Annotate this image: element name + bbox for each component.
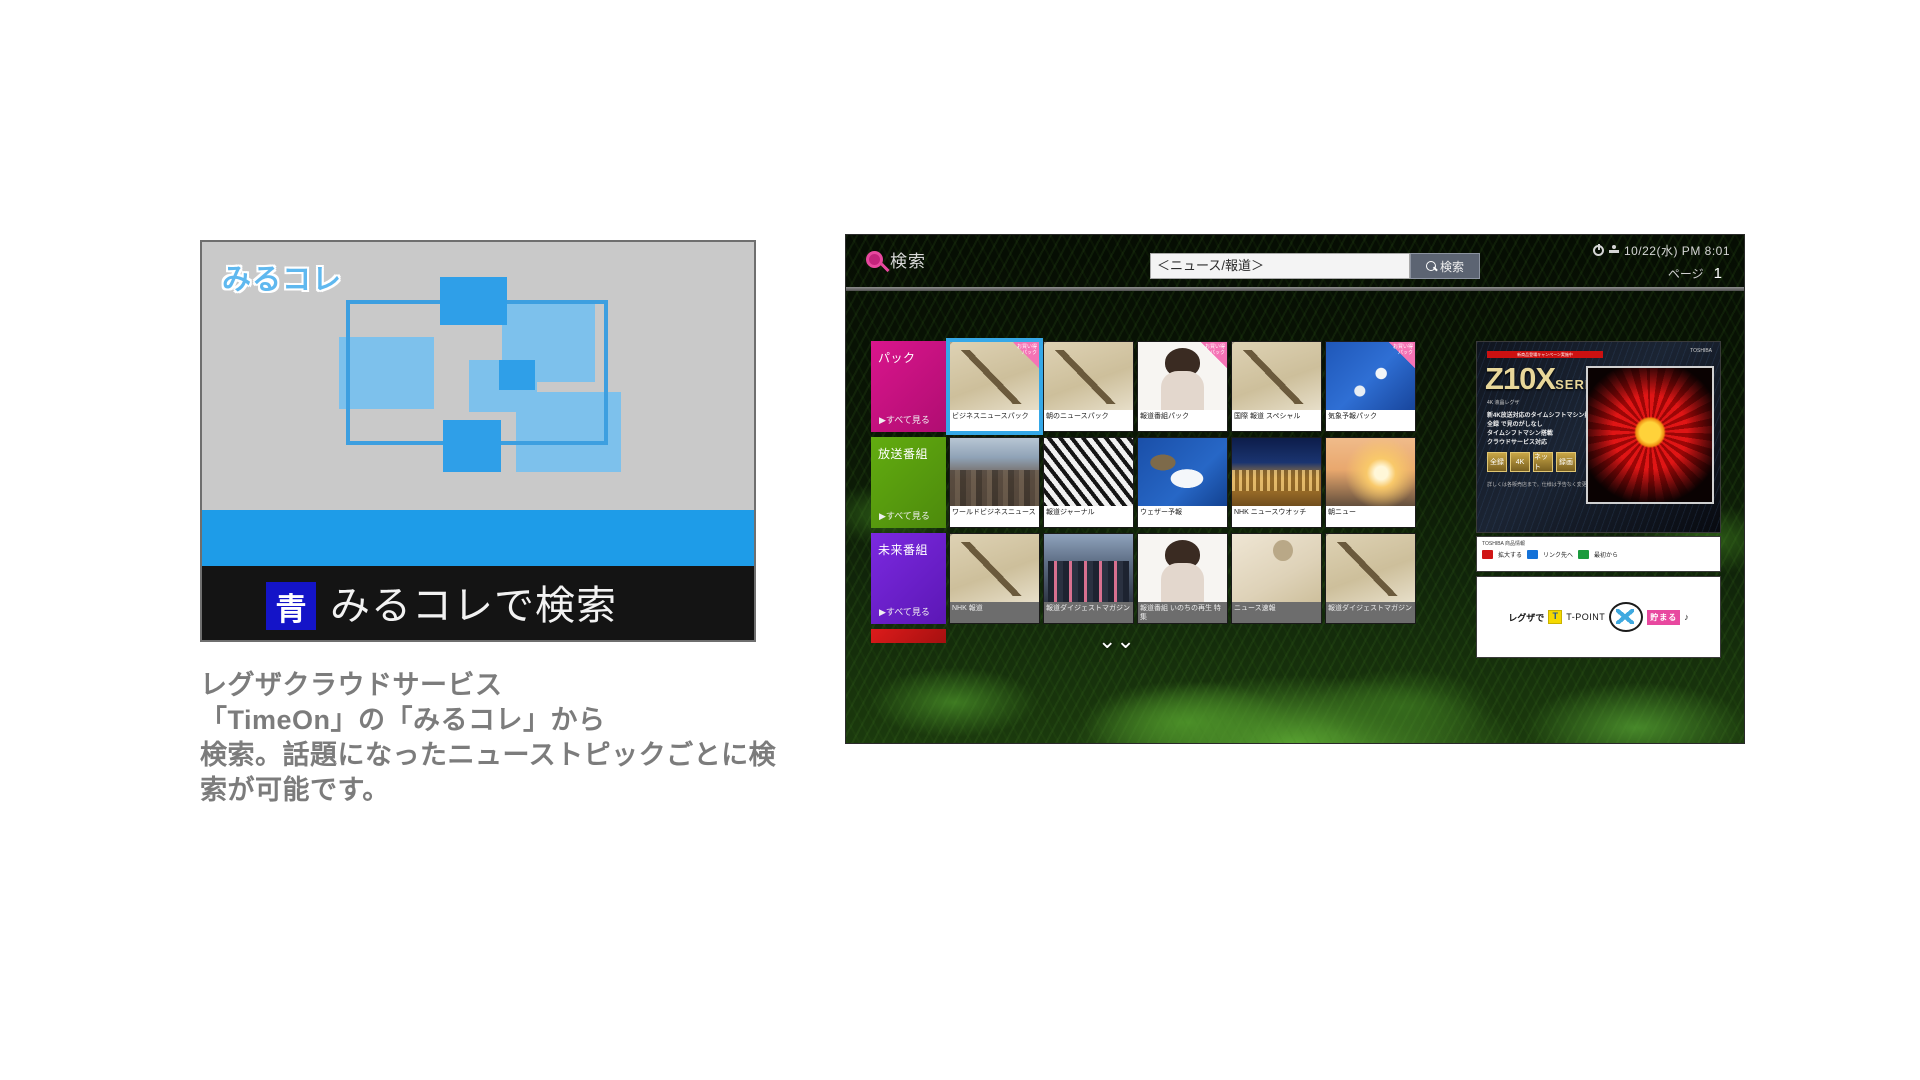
advert-campaign-bar: 新商品登場キャンペーン実施中 [1487,351,1603,358]
category-label: パック [878,349,916,366]
thumbnail-title: 報道ジャーナル [1044,506,1133,527]
tpoint-label: T-POINT [1566,612,1605,622]
thumbnail-image [1232,438,1321,508]
flower-image [1588,368,1712,502]
thumbnail-image [1044,438,1133,508]
category-tile-future[interactable]: 未来番組 ▶すべて見る [871,533,946,624]
tv-header: 検索 ＜ニュース/報道＞ 検索 10/22(水) PM 8:01 ページ 1 [846,235,1744,287]
page-number: 1 [1714,265,1722,282]
category-see-all-link[interactable]: ▶すべて見る [879,605,930,618]
thumbnail-card[interactable]: 報道ダイジェストマガジン [1325,533,1416,624]
footer-bar-label: みるコレで検索 [330,578,617,634]
thumbnail-image [1138,438,1227,508]
thumbnail-card[interactable]: 国際 報道 スペシャル [1231,341,1322,432]
thumbnail-image [1232,342,1321,412]
advert-series-main: Z10X [1485,361,1555,396]
page-label: ページ [1668,265,1704,282]
thumbnail-card[interactable]: ニュース速報 [1231,533,1322,624]
thumbnail-card[interactable]: NHK 報道 [949,533,1040,624]
category-row: 未来番組 ▶すべて見る NHK 報道 報道ダイジェストマガジン 報道番組 いのち… [871,533,1461,624]
thumbnail-title: 報道番組パック [1138,410,1227,431]
cloud-icon [1609,602,1643,632]
magnifier-icon [866,251,883,268]
page-indicator: ページ 1 [1668,265,1722,282]
thumbnail-card[interactable]: 報道ジャーナル [1043,437,1134,528]
green-key-label[interactable]: 最初から [1594,550,1618,559]
thumbnail-card[interactable]: NHK ニュースウオッチ [1231,437,1322,528]
advert-banner[interactable]: 新商品登場キャンペーン実施中 Z10XSERIES 4K 液晶レグザ 新4K放送… [1476,341,1721,533]
search-input[interactable]: ＜ニュース/報道＞ [1150,253,1410,279]
decor-solid-bottom [443,420,501,472]
feature-icon: 4K [1510,452,1530,472]
blue-key-icon [1527,550,1538,559]
advert-tv-mockup [1586,366,1714,504]
thumbnail-card[interactable]: 朝のニュースパック [1043,341,1134,432]
thumbnail-card[interactable]: 報道ダイジェストマガジン [1043,533,1134,624]
thumbnail-title: 気象予報パック [1326,410,1415,431]
thumbnail-title: 報道ダイジェストマガジン [1326,602,1415,623]
category-tile-broadcast[interactable]: 放送番組 ▶すべて見る [871,437,946,528]
thumbnail-image [1044,342,1133,412]
category-label: 未来番組 [878,541,928,558]
thumbnail-title: NHK ニュースウオッチ [1232,506,1321,527]
feature-icon: 全録 [1487,452,1507,472]
datetime-label: 10/22(水) PM 8:01 [1624,242,1730,259]
thumbnail-card[interactable]: お買い得パック 報道番組パック [1137,341,1228,432]
figure-caption: レグザクラウドサービス 「TimeOn」の「みるコレ」から 検索。話題になったニ… [200,668,780,808]
thumbnail-badge: お買い得パック [1389,342,1415,368]
thumbnail-image [1326,438,1415,508]
feature-icon: 録画 [1556,452,1576,472]
thumbnail-image [1232,534,1321,604]
thumbnail-title: NHK 報道 [950,602,1039,623]
red-key-icon [1482,550,1493,559]
blue-band [202,510,754,566]
power-icon [1593,245,1604,256]
thumbnail-title: 国際 報道 スペシャル [1232,410,1321,431]
feature-icon: ネット [1533,452,1553,472]
search-button-label: 検索 [1440,258,1464,275]
advert-brand-label: TOSHIBA [1690,348,1712,354]
thumbnail-title: ワールドビジネスニュース [950,506,1039,527]
tpoint-prefix: レグザで [1508,611,1544,624]
thumbnail-title: 朝ニュー [1326,506,1415,527]
thumbnail-title: 報道番組 いのちの再生 特集 [1138,602,1227,623]
category-label: 放送番組 [878,445,928,462]
thumbnail-image [950,438,1039,508]
thumbnail-image [1326,534,1415,604]
decor-solid-middle [499,360,535,390]
footer-bar: 青 みるコレで検索 [202,566,754,642]
advert-feature-icons: 全録 4K ネット 録画 [1487,452,1576,472]
tv-screenshot: 検索 ＜ニュース/報道＞ 検索 10/22(水) PM 8:01 ページ 1 パ… [845,234,1745,744]
search-bar[interactable]: ＜ニュース/報道＞ 検索 [1150,253,1480,279]
thumbnail-card[interactable]: 朝ニュー [1325,437,1416,528]
thumbnail-badge: お買い得パック [1201,342,1227,368]
search-icon [1426,261,1436,271]
blue-key-label[interactable]: リンク先へ [1543,550,1573,559]
thumbnail-title: ニュース速報 [1232,602,1321,623]
scroll-down-chevron-icon[interactable]: ⌄⌄ [1098,635,1135,646]
thumbnail-image [1044,534,1133,604]
thumbnail-title: ビジネスニュースパック [950,410,1039,431]
thumbnail-title: 報道ダイジェストマガジン [1044,602,1133,623]
tpoint-badge: 貯まる [1647,610,1680,625]
blue-key-badge: 青 [266,582,316,630]
header-divider [846,287,1744,291]
status-cluster: 10/22(水) PM 8:01 [1593,242,1730,259]
advert-links-title: TOSHIBA 商品情報 [1482,540,1525,547]
mirukore-illustration: みるコレ 青 みるコレで検索 [200,240,756,642]
thumbnail-card[interactable]: ウェザー予報 [1137,437,1228,528]
category-see-all-link[interactable]: ▶すべて見る [879,413,930,426]
category-see-all-link[interactable]: ▶すべて見る [879,509,930,522]
thumbnail-card[interactable]: お買い得パック ビジネスニュースパック [949,341,1040,432]
user-icon [1609,245,1619,256]
tpoint-t-icon: T [1548,610,1562,624]
decor-solid-top [440,277,507,325]
advert-links-bar: TOSHIBA 商品情報 拡大する リンク先へ 最初から [1476,536,1721,572]
thumbnail-image [1138,534,1227,604]
advert-subtitle: 4K 液晶レグザ [1487,400,1520,407]
content-grid: パック ▶すべて見る お買い得パック ビジネスニュースパック 朝のニュースパック… [871,341,1461,648]
thumbnail-image [950,534,1039,604]
color-key-links: 拡大する リンク先へ 最初から [1482,550,1618,559]
search-mode-indicator: 検索 [866,247,926,272]
advert-column: 新商品登場キャンペーン実施中 Z10XSERIES 4K 液晶レグザ 新4K放送… [1476,341,1721,658]
category-row-partial [871,629,1461,643]
search-button[interactable]: 検索 [1410,253,1480,279]
tpoint-banner[interactable]: レグザで T T-POINT 貯まる ♪ [1476,576,1721,658]
thumbnail-card[interactable]: お買い得パック 気象予報パック [1325,341,1416,432]
mirukore-logo: みるコレ [222,256,342,298]
red-key-label[interactable]: 拡大する [1498,550,1522,559]
category-row: 放送番組 ▶すべて見る ワールドビジネスニュース 報道ジャーナル ウェザー予報 … [871,437,1461,528]
green-key-icon [1578,550,1589,559]
category-tile-pack[interactable]: パック ▶すべて見る [871,341,946,432]
thumbnail-badge: お買い得パック [1013,342,1039,368]
category-tile-partial[interactable] [871,629,946,643]
thumbnail-card[interactable]: 報道番組 いのちの再生 特集 [1137,533,1228,624]
thumbnail-card[interactable]: ワールドビジネスニュース [949,437,1040,528]
thumbnail-title: ウェザー予報 [1138,506,1227,527]
thumbnail-title: 朝のニュースパック [1044,410,1133,431]
search-mode-label: 検索 [890,247,926,272]
tpoint-suffix: ♪ [1684,612,1689,622]
category-row: パック ▶すべて見る お買い得パック ビジネスニュースパック 朝のニュースパック… [871,341,1461,432]
